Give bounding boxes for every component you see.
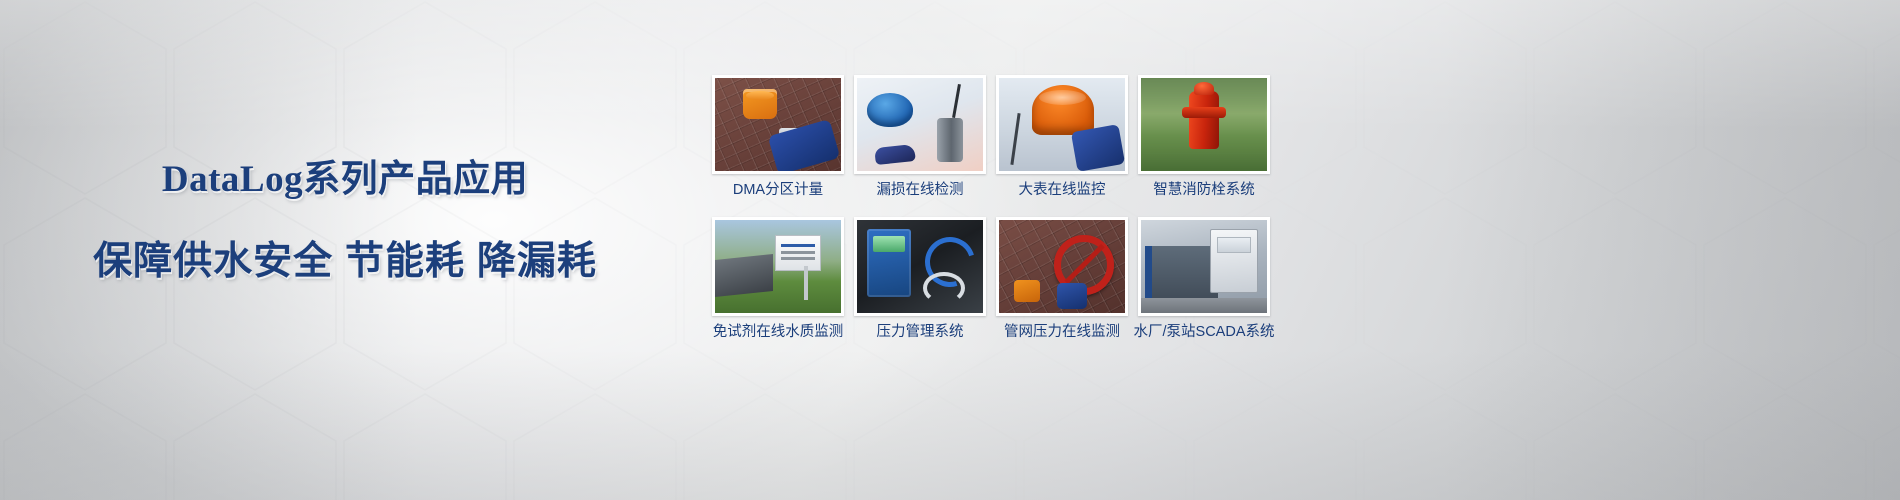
product-caption: 水厂/泵站SCADA系统 <box>1134 325 1275 341</box>
pressure-management-cabinet-photo <box>857 220 983 313</box>
pipe-network-pressure-photo <box>999 220 1125 313</box>
dma-metering-chamber-photo <box>715 78 841 171</box>
product-caption: 智慧消防栓系统 <box>1153 183 1255 199</box>
product-card-smart-hydrant[interactable]: 智慧消防栓系统 <box>1133 75 1275 199</box>
product-caption: 管网压力在线监测 <box>1004 325 1120 341</box>
product-thumbnail-frame[interactable] <box>854 217 986 316</box>
headline-line-2: 保障供水安全 节能耗 降漏耗 <box>0 230 690 286</box>
product-thumbnail-frame[interactable] <box>1138 75 1270 174</box>
product-card-leak-detection[interactable]: 漏损在线检测 <box>849 75 991 199</box>
product-thumbnail-grid: DMA分区计量 漏损在线检测 大表在线监控 <box>707 75 1277 341</box>
product-thumbnail-frame[interactable] <box>996 217 1128 316</box>
product-row-bottom: 免试剂在线水质监测 压力管理系统 管网压力在线监测 <box>707 217 1277 341</box>
large-meter-valve-photo <box>999 78 1125 171</box>
scada-cabinet-photo <box>1141 220 1267 313</box>
product-thumbnail-frame[interactable] <box>712 217 844 316</box>
product-application-banner: DataLog系列产品应用 保障供水安全 节能耗 降漏耗 DMA分区计量 <box>0 0 1900 500</box>
product-thumbnail-frame[interactable] <box>1138 217 1270 316</box>
product-caption: 压力管理系统 <box>877 325 964 341</box>
product-card-scada-system[interactable]: 水厂/泵站SCADA系统 <box>1133 217 1275 341</box>
product-caption: 漏损在线检测 <box>877 183 964 199</box>
water-quality-station-photo <box>715 220 841 313</box>
product-card-water-quality[interactable]: 免试剂在线水质监测 <box>707 217 849 341</box>
product-caption: 大表在线监控 <box>1019 183 1106 199</box>
leak-logger-photo <box>857 78 983 171</box>
product-thumbnail-frame[interactable] <box>996 75 1128 174</box>
headline-block: DataLog系列产品应用 保障供水安全 节能耗 降漏耗 <box>0 148 690 286</box>
product-card-large-meter-monitoring[interactable]: 大表在线监控 <box>991 75 1133 199</box>
product-thumbnail-frame[interactable] <box>854 75 986 174</box>
product-row-top: DMA分区计量 漏损在线检测 大表在线监控 <box>707 75 1277 199</box>
product-card-dma-metering[interactable]: DMA分区计量 <box>707 75 849 199</box>
product-thumbnail-frame[interactable] <box>712 75 844 174</box>
product-caption: DMA分区计量 <box>733 183 823 199</box>
product-caption: 免试剂在线水质监测 <box>713 325 844 341</box>
product-card-pipe-network-pressure[interactable]: 管网压力在线监测 <box>991 217 1133 341</box>
headline-line-1: DataLog系列产品应用 <box>0 148 690 202</box>
smart-fire-hydrant-photo <box>1141 78 1267 171</box>
product-card-pressure-management[interactable]: 压力管理系统 <box>849 217 991 341</box>
